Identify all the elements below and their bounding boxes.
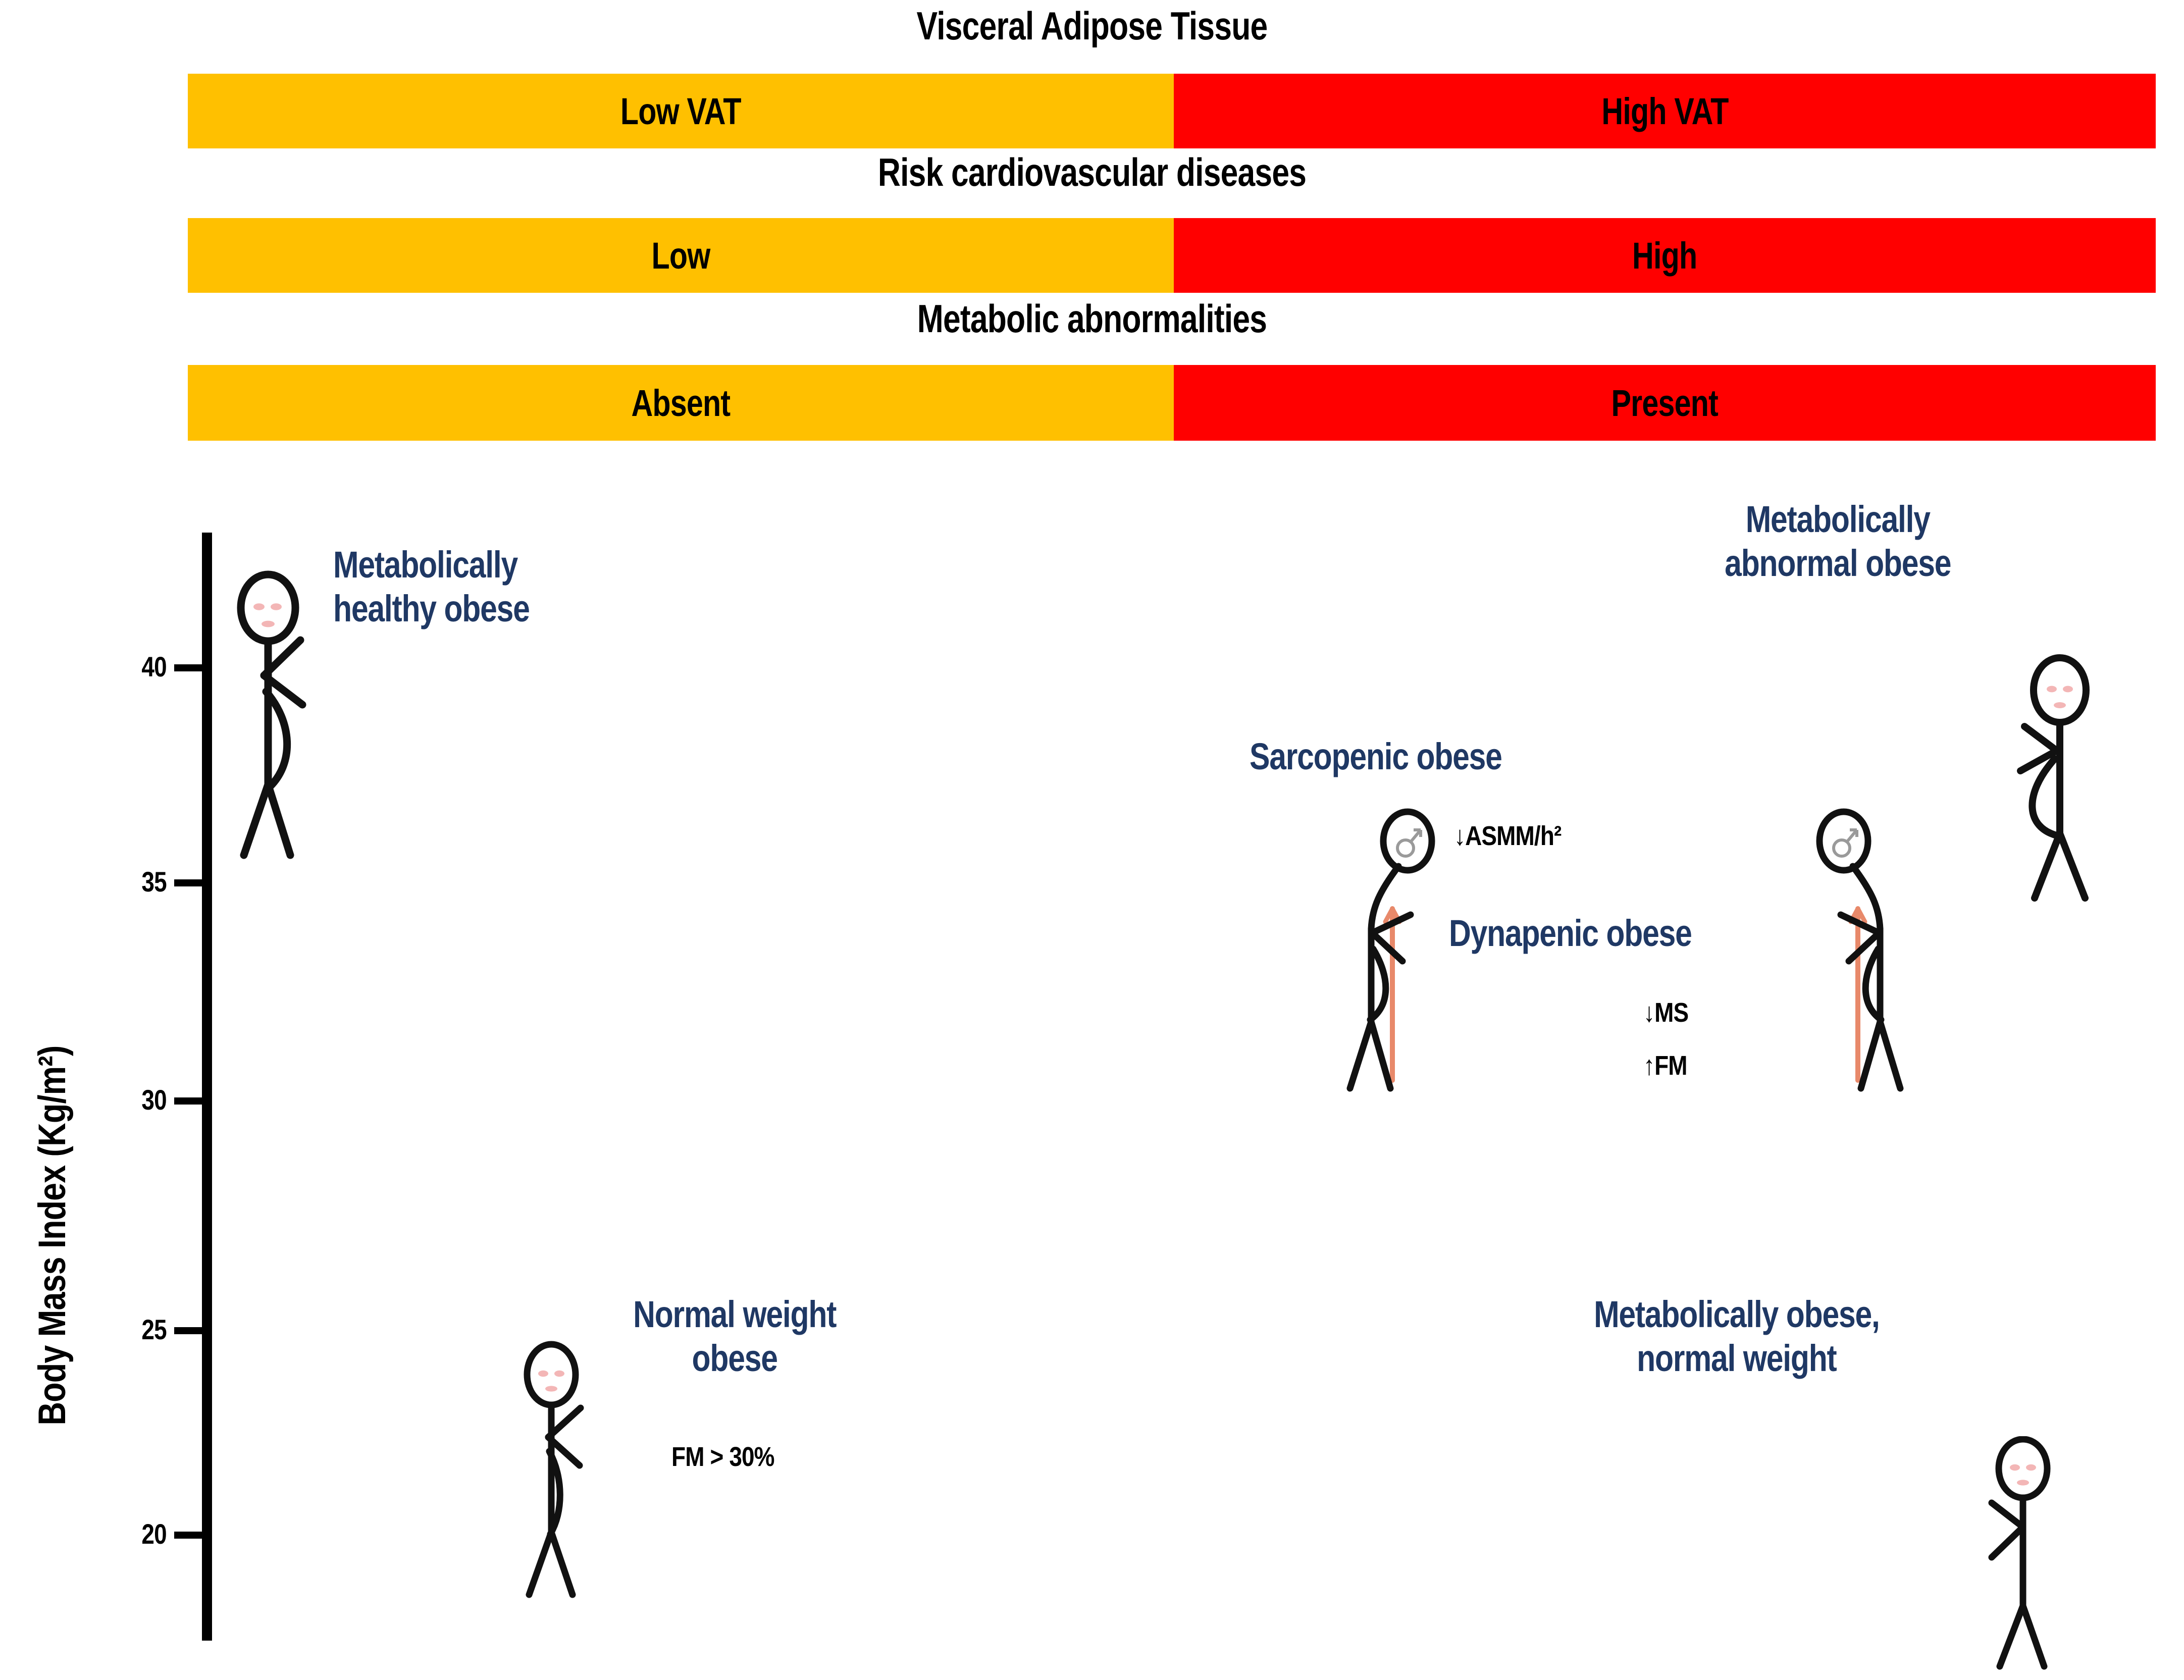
stick-figure-dynapenic-obese [1777,808,1929,1106]
y-tick-40 [174,664,203,671]
annotation-ms-decrease: ↓MS [1643,997,1696,1028]
y-tick-25 [174,1327,203,1334]
y-tick-label-25: 25 [93,1313,169,1346]
stick-figure-sarcopenic-obese [1328,808,1479,1106]
y-tick-35 [174,879,203,886]
stick-figure-metabolically-healthy-obese [230,570,396,863]
y-axis-label: Body Mass Index (Kg/m²) [30,1012,74,1459]
y-axis-line [202,533,212,1641]
stick-figure-metabolically-obese-normal-weight [1951,1436,2083,1673]
label-metabolically-obese-normal-weight: Metabolically obese, normal weight [1520,1292,1954,1381]
y-tick-label-20: 20 [93,1517,169,1550]
stick-figure-metabolically-abnormal-obese [1984,654,2125,906]
label-dynapenic-obese: Dynapenic obese [1449,911,1812,955]
stick-figure-normal-weight-obese [515,1340,646,1603]
y-tick-30 [174,1097,203,1105]
y-tick-20 [174,1532,203,1539]
bmi-scatter-plot: 40 35 30 25 20 Body Mass Index (Kg/m²) M… [0,0,2184,1680]
y-tick-label-30: 30 [93,1083,169,1116]
annotation-fm-increase: ↑FM [1643,1050,1695,1081]
label-sarcopenic-obese: Sarcopenic obese [1250,734,1704,778]
label-metabolically-abnormal-obese: Metabolically abnormal obese [1646,497,2030,586]
y-tick-label-35: 35 [93,865,169,898]
annotation-fm-over-30: FM > 30% [671,1441,793,1473]
y-tick-label-40: 40 [93,650,169,683]
